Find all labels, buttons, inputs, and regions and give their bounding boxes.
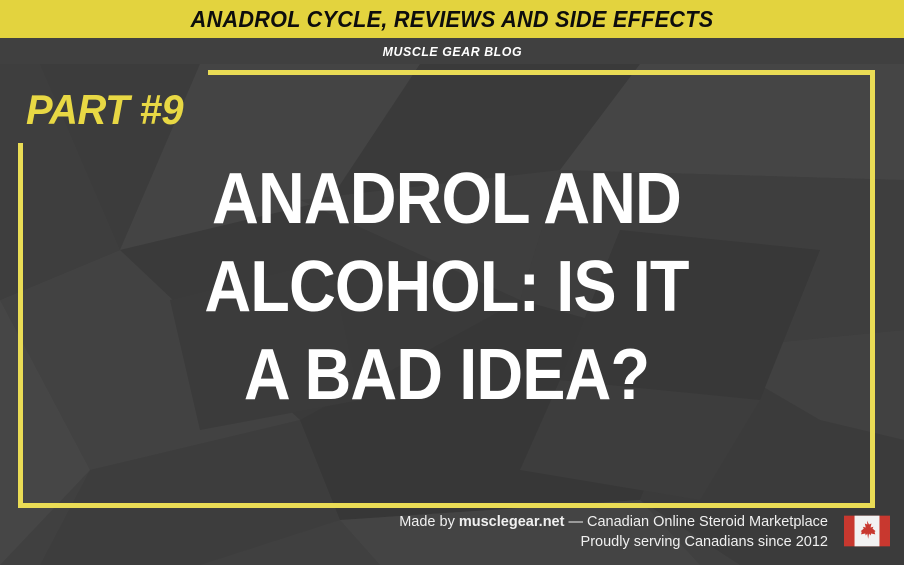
- canadian-flag-icon: [844, 515, 890, 547]
- footer-brand-link[interactable]: musclegear.net: [459, 514, 565, 530]
- footer: Made by musclegear.net — Canadian Online…: [0, 508, 904, 565]
- frame-border-right: [870, 70, 875, 508]
- footer-line-1: Made by musclegear.net — Canadian Online…: [399, 512, 828, 532]
- headline-line-2: ALCOHOL: IS IT: [65, 243, 827, 331]
- top-banner: ANADROL CYCLE, REVIEWS AND SIDE EFFECTS: [0, 0, 904, 38]
- part-number-label: PART #9: [26, 86, 183, 134]
- headline-line-3: A BAD IDEA?: [65, 331, 827, 419]
- page-title: ANADROL AND ALCOHOL: IS IT A BAD IDEA?: [23, 155, 870, 419]
- blog-name-bar: MUSCLE GEAR BLOG: [0, 38, 904, 64]
- footer-credit: Made by musclegear.net — Canadian Online…: [399, 512, 828, 552]
- footer-line-2: Proudly serving Canadians since 2012: [399, 532, 828, 552]
- footer-made-by-text: Made by: [399, 514, 459, 530]
- footer-tagline-text: — Canadian Online Steroid Marketplace: [564, 514, 828, 530]
- blog-name-label: MUSCLE GEAR BLOG: [382, 44, 521, 59]
- headline-line-1: ANADROL AND: [65, 155, 827, 243]
- banner-title: ANADROL CYCLE, REVIEWS AND SIDE EFFECTS: [191, 6, 714, 33]
- slide-canvas: ANADROL CYCLE, REVIEWS AND SIDE EFFECTS …: [0, 0, 904, 565]
- frame-border-top: [208, 70, 875, 75]
